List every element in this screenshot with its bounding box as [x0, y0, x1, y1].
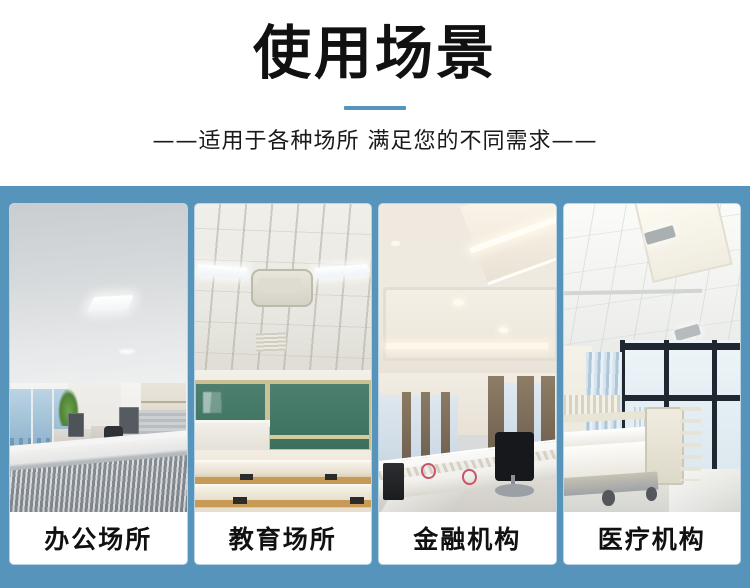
scenario-label-office: 办公场所 — [10, 512, 187, 564]
student-desk-edge — [195, 477, 372, 485]
scenario-card-medical[interactable]: 医疗机构 — [564, 204, 741, 564]
ceiling-air-conditioner-vent — [258, 278, 302, 293]
window-frame — [620, 343, 740, 351]
cove-light-band-icon — [386, 343, 548, 349]
shelf-divider — [141, 401, 187, 403]
hospital-bed-rail-bars — [680, 407, 701, 481]
window-curtain — [402, 392, 411, 463]
chalk-writing — [203, 392, 249, 414]
office-chair — [495, 432, 534, 481]
window-frame — [620, 395, 740, 401]
computer-monitor — [68, 413, 84, 437]
student-desk-edge — [195, 500, 372, 508]
waste-bin — [383, 463, 404, 500]
ceiling-recess-panel — [383, 287, 556, 361]
window-curtain — [421, 392, 430, 463]
desk-hardware — [350, 497, 364, 504]
desk-hardware — [325, 474, 337, 480]
scenario-card-office[interactable]: 办公场所 — [10, 204, 187, 564]
classroom-interior-photo — [195, 204, 372, 512]
page-title: 使用场景 — [0, 0, 750, 88]
page-subtitle: ——适用于各种场所 满足您的不同需求—— — [0, 110, 750, 156]
ceiling-downlight-icon — [119, 349, 135, 354]
bank-interior-photo — [379, 204, 556, 512]
scenario-label-finance: 金融机构 — [379, 512, 556, 564]
bed-caster-wheel — [602, 490, 614, 505]
office-chair-base — [495, 484, 534, 496]
scenario-card-list: 办公场所 — [10, 204, 740, 564]
scenario-label-medical: 医疗机构 — [564, 512, 741, 564]
desk-hardware — [240, 474, 252, 480]
header: 使用场景 ——适用于各种场所 满足您的不同需求—— — [0, 0, 750, 186]
ceiling-spotlight-icon — [453, 299, 464, 305]
ceiling-spotlight-icon — [499, 327, 508, 333]
page-root: 使用场景 ——适用于各种场所 满足您的不同需求—— — [0, 0, 750, 588]
desk-hardware — [233, 497, 247, 504]
scenarios-panel: 办公场所 — [0, 186, 750, 588]
scenario-card-finance[interactable]: 金融机构 — [379, 204, 556, 564]
scenario-label-education: 教育场所 — [195, 512, 372, 564]
office-interior-photo — [10, 204, 187, 512]
hospital-interior-photo — [564, 204, 741, 512]
ceiling-vent-louver — [256, 333, 287, 353]
scenario-card-education[interactable]: 教育场所 — [195, 204, 372, 564]
window-frame — [712, 340, 717, 469]
